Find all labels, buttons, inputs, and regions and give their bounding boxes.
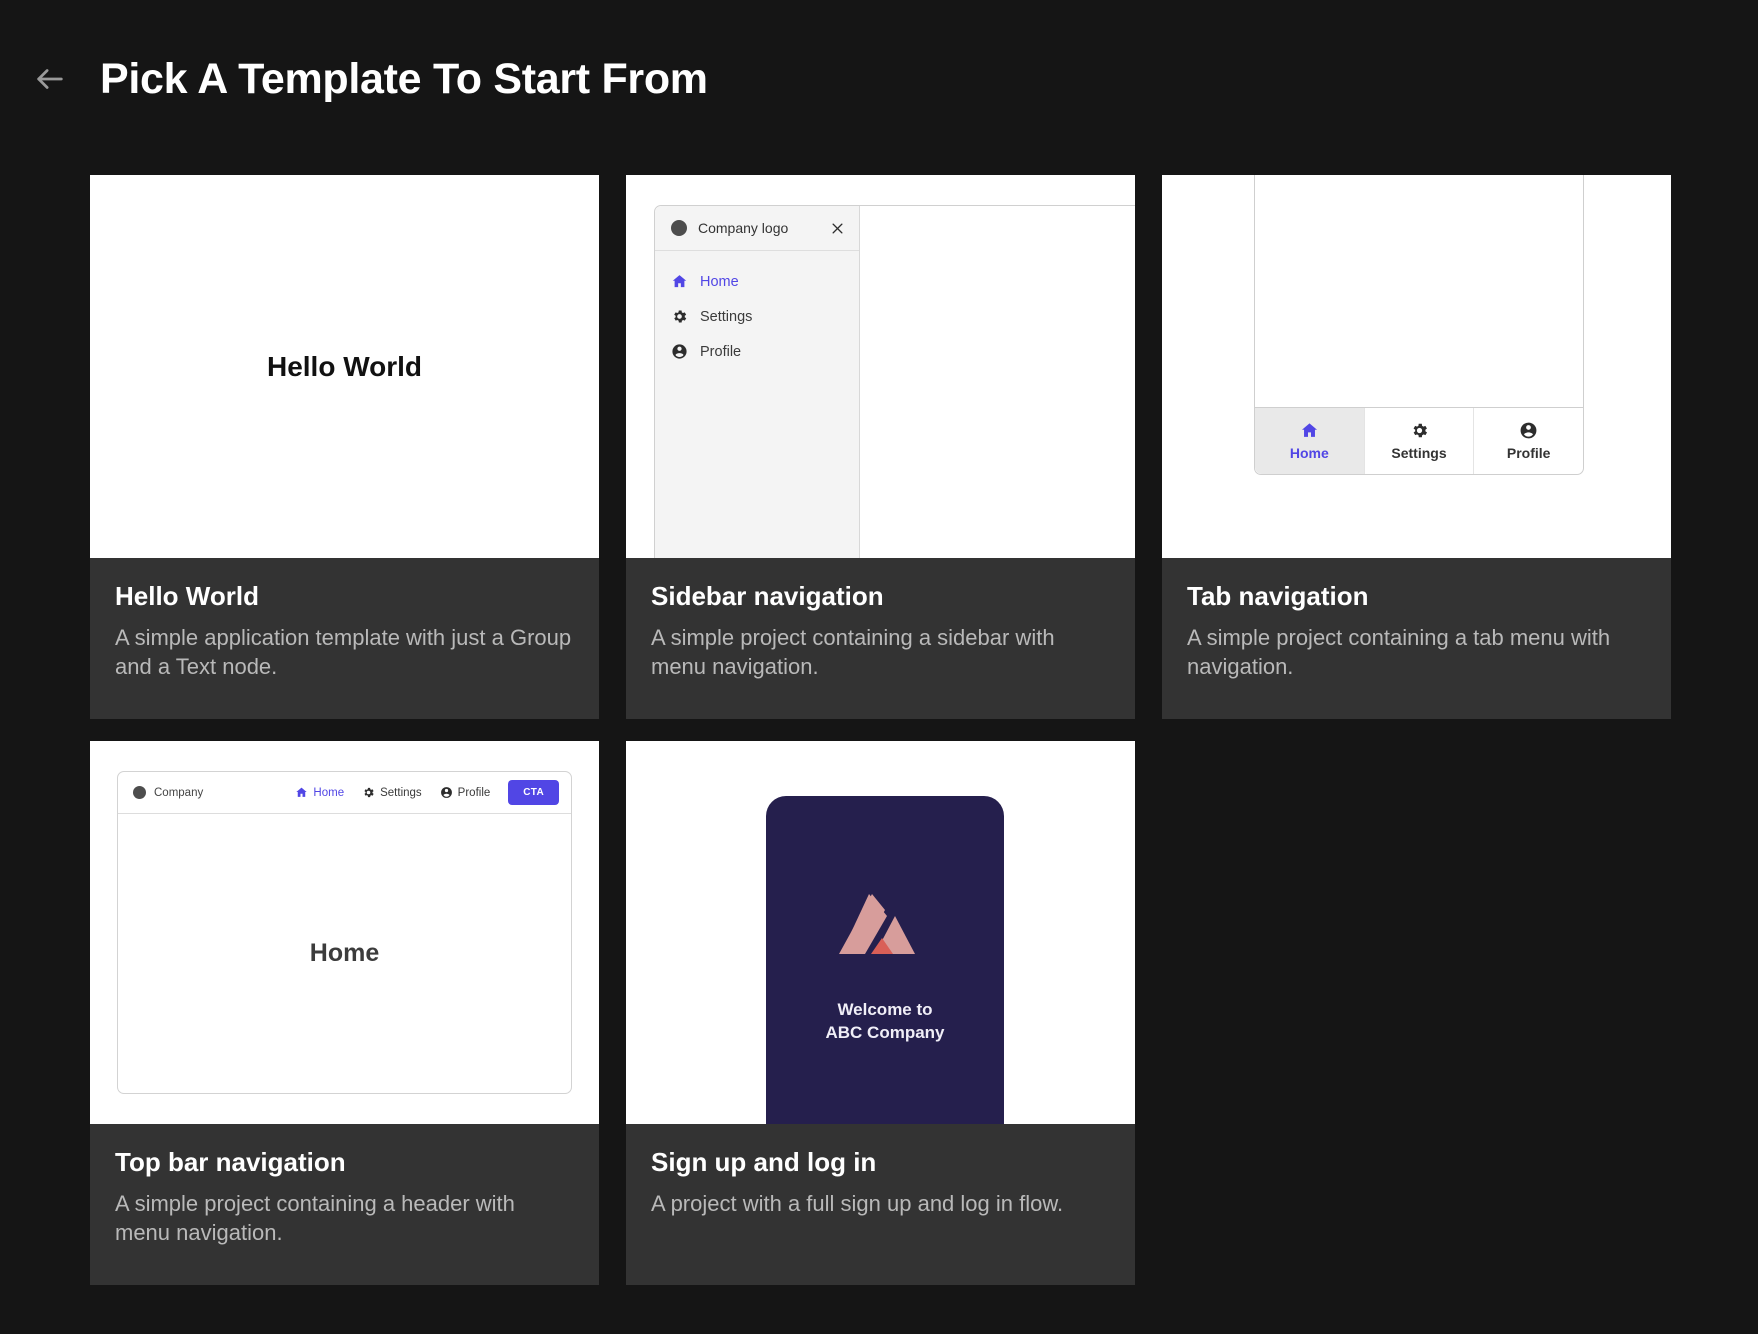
card-description: A simple application template with just … — [115, 623, 574, 681]
topbar-link-home[interactable]: Home — [295, 786, 344, 799]
template-card-top-bar-navigation[interactable]: Company Home — [90, 741, 599, 1285]
tab-home[interactable]: Home — [1255, 408, 1365, 474]
home-icon — [671, 273, 688, 290]
sidebar-item-home[interactable]: Home — [655, 264, 859, 299]
card-meta: Hello World A simple application templat… — [90, 558, 599, 719]
card-description: A project with a full sign up and log in… — [651, 1189, 1110, 1218]
template-card-hello-world[interactable]: Hello World Hello World A simple applica… — [90, 175, 599, 719]
welcome-line-1: Welcome to — [825, 999, 944, 1022]
sidebar-panel: Company logo — [655, 206, 860, 558]
sidebar-item-label: Home — [700, 274, 739, 290]
gear-icon — [671, 308, 688, 325]
card-description: A simple project containing a sidebar wi… — [651, 623, 1110, 681]
welcome-text: Welcome to ABC Company — [825, 999, 944, 1045]
card-title: Sign up and log in — [651, 1148, 1110, 1177]
sidebar-item-label: Profile — [700, 344, 741, 360]
card-meta: Sidebar navigation A simple project cont… — [626, 558, 1135, 719]
home-icon — [295, 786, 308, 799]
tab-bar: Home Settings — [1255, 407, 1583, 474]
sidebar-item-settings[interactable]: Settings — [655, 299, 859, 334]
topbar-preview-body-text: Home — [310, 939, 379, 968]
signup-phone-mockup: Welcome to ABC Company Sign Up via Email — [766, 796, 1004, 1124]
home-icon — [1300, 421, 1319, 440]
back-button[interactable] — [26, 55, 74, 103]
card-title: Tab navigation — [1187, 582, 1646, 611]
card-description: A simple project containing a tab menu w… — [1187, 623, 1646, 681]
welcome-line-2: ABC Company — [825, 1022, 944, 1045]
sidebar-menu: Home Settings — [655, 251, 859, 369]
tab-settings[interactable]: Settings — [1365, 408, 1475, 474]
card-title: Top bar navigation — [115, 1148, 574, 1177]
arrow-left-icon — [33, 62, 67, 96]
topbar-link-label: Profile — [458, 787, 491, 799]
sidebar-preview-body: Home — [860, 206, 1135, 558]
tab-profile[interactable]: Profile — [1474, 408, 1583, 474]
gear-icon — [362, 786, 375, 799]
card-title: Sidebar navigation — [651, 582, 1110, 611]
mountain-logo-icon — [839, 894, 931, 979]
template-preview-topbar: Company Home — [90, 741, 599, 1124]
preview-hello-world-text: Hello World — [267, 351, 422, 383]
sidebar-preview-frame: Company logo — [654, 205, 1135, 558]
card-title: Hello World — [115, 582, 574, 611]
gear-icon — [1410, 421, 1429, 440]
template-grid: Hello World Hello World A simple applica… — [0, 120, 1758, 1285]
person-icon — [1519, 421, 1538, 440]
template-preview-signup: Welcome to ABC Company Sign Up via Email — [626, 741, 1135, 1124]
tab-preview-content — [1255, 175, 1583, 407]
brand-label: Company — [154, 787, 203, 799]
tab-label: Home — [1290, 445, 1329, 461]
close-icon[interactable] — [830, 221, 845, 236]
tab-label: Profile — [1507, 445, 1551, 461]
topbar-link-label: Settings — [380, 787, 422, 799]
card-meta: Sign up and log in A project with a full… — [626, 1124, 1135, 1285]
topbar-link-label: Home — [313, 787, 344, 799]
tab-preview-frame: Home Settings — [1254, 175, 1584, 475]
sidebar-header: Company logo — [655, 206, 859, 251]
company-logo-icon — [671, 220, 687, 236]
template-card-sidebar-navigation[interactable]: Company logo — [626, 175, 1135, 719]
template-preview-tabs: Home Settings — [1162, 175, 1671, 558]
template-card-sign-up-and-log-in[interactable]: Welcome to ABC Company Sign Up via Email… — [626, 741, 1135, 1285]
card-description: A simple project containing a header wit… — [115, 1189, 574, 1247]
sidebar-item-profile[interactable]: Profile — [655, 334, 859, 369]
template-card-tab-navigation[interactable]: Home Settings — [1162, 175, 1671, 719]
topbar-link-profile[interactable]: Profile — [440, 786, 491, 799]
person-icon — [440, 786, 453, 799]
tab-label: Settings — [1391, 445, 1446, 461]
page-header: Pick A Template To Start From — [0, 0, 1758, 120]
topbar-preview-frame: Company Home — [117, 771, 572, 1094]
person-icon — [671, 343, 688, 360]
card-meta: Top bar navigation A simple project cont… — [90, 1124, 599, 1285]
page-title: Pick A Template To Start From — [100, 58, 708, 101]
sidebar-item-label: Settings — [700, 309, 752, 325]
cta-button[interactable]: CTA — [508, 780, 559, 805]
company-logo-icon — [133, 786, 146, 799]
template-preview-sidebar: Company logo — [626, 175, 1135, 558]
topbar: Company Home — [118, 772, 571, 814]
brand: Company — [133, 786, 203, 799]
company-logo-label: Company logo — [698, 220, 819, 236]
card-meta: Tab navigation A simple project containi… — [1162, 558, 1671, 719]
template-preview-hello-world: Hello World — [90, 175, 599, 558]
topbar-preview-body: Home — [118, 814, 571, 1093]
topbar-link-settings[interactable]: Settings — [362, 786, 422, 799]
